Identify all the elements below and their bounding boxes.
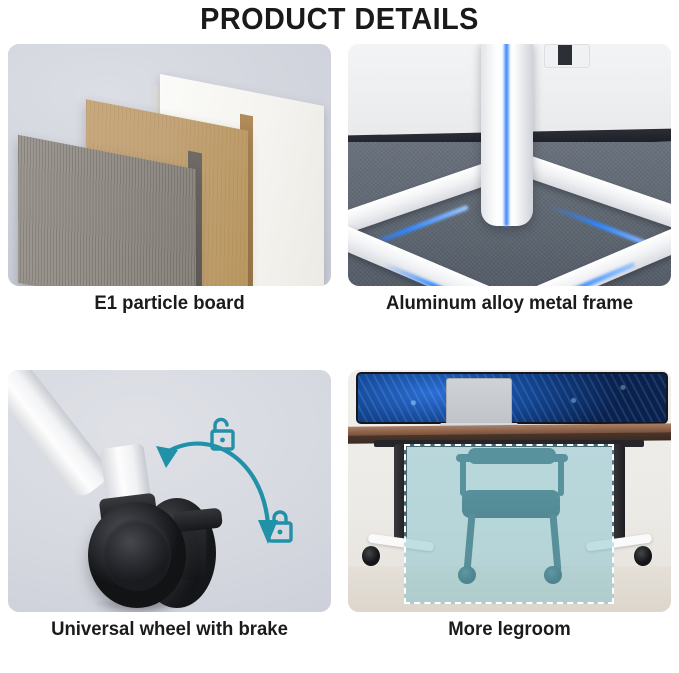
- unlock-icon: [206, 416, 238, 452]
- lock-icon: [264, 508, 296, 544]
- caption-more-legroom: More legroom: [356, 618, 663, 641]
- product-details-grid: E1 particle board Aluminum alloy metal f…: [8, 44, 671, 669]
- desk-caster-right: [634, 546, 652, 566]
- detail-card-more-legroom[interactable]: More legroom: [348, 370, 671, 652]
- detail-card-e1-particle-board[interactable]: E1 particle board: [8, 44, 331, 326]
- particle-board-image: [8, 44, 331, 286]
- caption-e1-particle-board: E1 particle board: [16, 292, 323, 315]
- laptop-screen: [446, 378, 512, 428]
- caption-aluminum-frame: Aluminum alloy metal frame: [356, 292, 663, 315]
- desk-caster-left: [362, 546, 380, 566]
- monitor-screen: [356, 372, 668, 424]
- legroom-highlight-area: [404, 444, 614, 604]
- caster-wheel-image: [8, 370, 331, 612]
- page-title: PRODUCT DETAILS: [24, 0, 655, 40]
- monitor-wallpaper: [358, 374, 666, 422]
- blue-glow-column: [503, 44, 510, 226]
- detail-card-universal-wheel[interactable]: Universal wheel with brake: [8, 370, 331, 652]
- legroom-image: [348, 370, 671, 612]
- aluminum-frame-image: [348, 44, 671, 286]
- detail-card-aluminum-frame[interactable]: Aluminum alloy metal frame: [348, 44, 671, 326]
- caption-universal-wheel: Universal wheel with brake: [16, 618, 323, 641]
- frame-bracket: [544, 44, 590, 68]
